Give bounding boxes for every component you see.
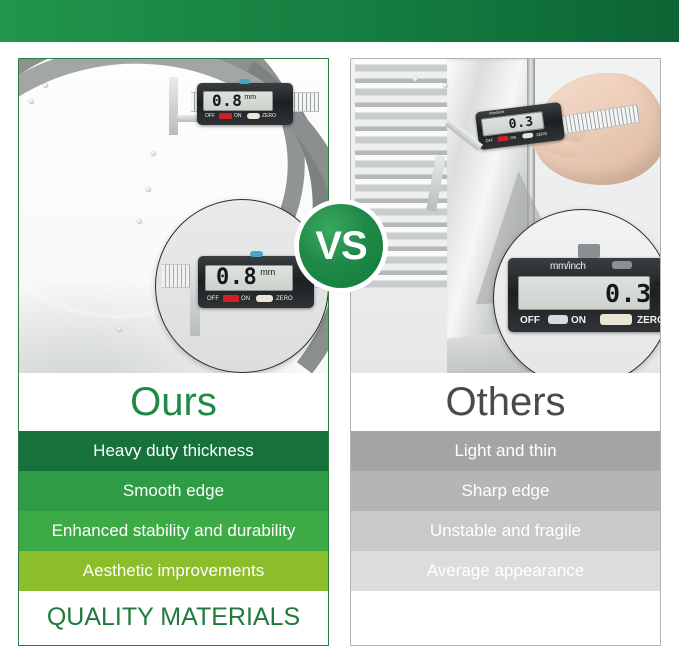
feature-label: Unstable and fragile [430, 521, 581, 541]
feature-label: Light and thin [454, 441, 556, 461]
product-photo-ours: 0.8 mm OFF ON ZERO 0.8 [19, 59, 328, 373]
feature-row-ours-4: Aesthetic improvements [19, 551, 328, 591]
digital-caliper: 0.8 mm OFF ON ZERO [197, 83, 293, 125]
caliper-thumb-screw [578, 244, 600, 258]
vs-badge: VS [299, 204, 383, 288]
feature-label: Sharp edge [462, 481, 550, 501]
caliper-off-label: OFF [205, 114, 215, 119]
caliper-power-switch [219, 113, 232, 119]
feature-row-ours-3: Enhanced stability and durability [19, 511, 328, 551]
caliper-on-label: ON [571, 316, 586, 326]
caliper-reading-unit: mm [260, 268, 275, 277]
feature-row-others-3: Unstable and fragile [351, 511, 660, 551]
caliper-zero-label: ZERO [262, 114, 276, 119]
panel-ours: 0.8 mm OFF ON ZERO 0.8 [18, 58, 329, 646]
caliper-zero-label: ZERO [536, 132, 548, 137]
product-photo-others: 0.3 mm/inch OFF ON ZERO [351, 59, 660, 373]
quality-materials-label: QUALITY MATERIALS [47, 603, 300, 632]
caliper-reading-value: 0.8 [212, 93, 242, 109]
caliper-power-switch [223, 295, 239, 302]
panel-title-ours: Ours [130, 380, 217, 425]
vs-label: VS [315, 224, 366, 269]
caliper-off-label: OFF [207, 296, 219, 302]
feature-row-others-4: Average appearance [351, 551, 660, 591]
comparison-panels: 0.8 mm OFF ON ZERO 0.8 [0, 42, 679, 659]
caliper-power-switch [497, 136, 509, 142]
caliper-zero-button [522, 132, 534, 138]
panel-footer-ours-row: QUALITY MATERIALS [19, 591, 328, 643]
feature-label: Enhanced stability and durability [52, 521, 296, 541]
screw-icon [443, 83, 448, 88]
screw-icon [117, 327, 122, 332]
screw-icon [43, 83, 48, 88]
caliper-on-label: ON [234, 114, 242, 119]
panel-title-ours-row: Ours [19, 373, 328, 431]
screw-icon [151, 151, 156, 156]
top-green-band [0, 0, 679, 42]
panel-others: 0.3 mm/inch OFF ON ZERO [350, 58, 661, 646]
caliper-reading-value: 0.3 [508, 115, 534, 131]
comparison-infographic: 0.8 mm OFF ON ZERO 0.8 [0, 0, 679, 659]
feature-label: Heavy duty thickness [93, 441, 254, 461]
panel-title-others: Others [445, 380, 565, 425]
caliper-off-label: OFF [520, 316, 540, 326]
caliper-zero-button [256, 295, 273, 302]
feature-row-others-2: Sharp edge [351, 471, 660, 511]
feature-row-others-1: Light and thin [351, 431, 660, 471]
caliper-reading-unit: mm [654, 280, 660, 289]
feature-label: Smooth edge [123, 481, 224, 501]
caliper-lcd-screen: 0.3 mm [518, 276, 650, 310]
caliper-on-label: ON [510, 136, 516, 141]
caliper-mode-label: mm/inch [489, 110, 504, 116]
caliper-reading-unit: mm [244, 94, 256, 101]
screw-icon [413, 77, 418, 82]
caliper-zero-label: ZERO [637, 316, 660, 326]
caliper-zero-label: ZERO [276, 296, 293, 302]
caliper-zero-button [600, 314, 632, 325]
feature-row-ours-1: Heavy duty thickness [19, 431, 328, 471]
digital-caliper-magnified: 0.8 mm OFF ON ZERO [198, 256, 314, 308]
caliper-top-button [612, 261, 632, 269]
feature-label: Average appearance [427, 561, 585, 581]
caliper-reading-value: 0.8 [216, 267, 257, 289]
panel-footer-others-row [351, 591, 660, 643]
screw-icon [137, 219, 142, 224]
feature-label: Aesthetic improvements [83, 561, 264, 581]
caliper-top-button [250, 251, 263, 257]
caliper-zero-button [247, 113, 260, 119]
caliper-jaw [169, 77, 178, 135]
caliper-on-label: ON [241, 296, 250, 302]
caliper-top-button [239, 79, 250, 84]
caliper-mode-label: mm/inch [550, 262, 586, 272]
caliper-lcd-screen: 0.8 mm [205, 265, 293, 291]
screw-icon [146, 187, 151, 192]
screw-icon [29, 99, 34, 104]
feature-row-ours-2: Smooth edge [19, 471, 328, 511]
caliper-reading-value: 0.3 [605, 281, 652, 306]
caliper-lcd-screen: 0.8 mm [203, 91, 273, 111]
digital-caliper-magnified: 0.3 mm mm/inch OFF ON ZERO [508, 258, 660, 332]
magnifier-circle-ours: 0.8 mm OFF ON ZERO [155, 199, 328, 373]
caliper-off-label: OFF [485, 138, 493, 143]
panel-title-others-row: Others [351, 373, 660, 431]
caliper-power-switch [548, 315, 568, 324]
